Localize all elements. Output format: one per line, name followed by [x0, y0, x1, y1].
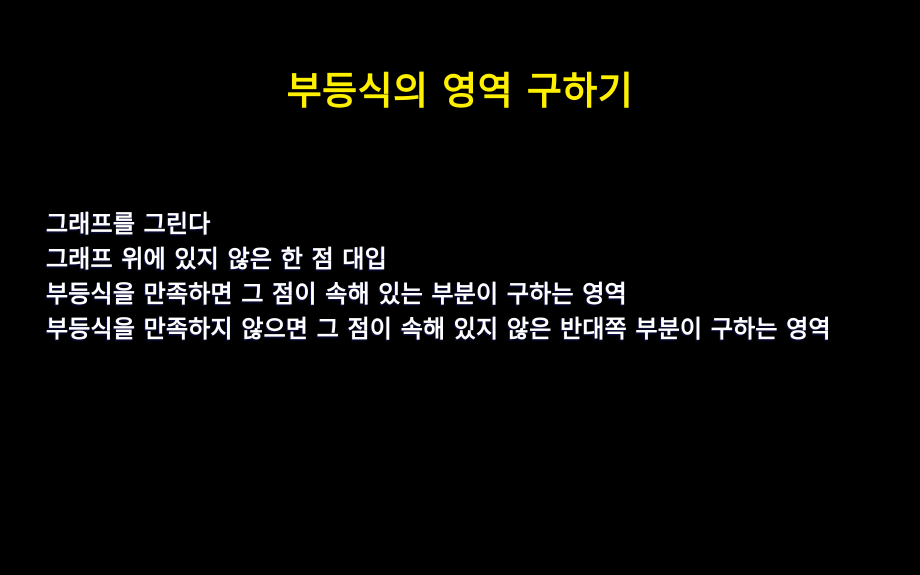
slide-body-list: 그래프를 그린다 그래프 위에 있지 않은 한 점 대입 부등식을 만족하면 그…: [46, 207, 896, 347]
presentation-slide: 부등식의 영역 구하기 그래프를 그린다 그래프 위에 있지 않은 한 점 대입…: [0, 0, 920, 575]
body-line-1: 그래프를 그린다: [46, 207, 896, 242]
body-line-4: 부등식을 만족하지 않으면 그 점이 속해 있지 않은 반대쪽 부분이 구하는 …: [46, 312, 896, 347]
page-title: 부등식의 영역 구하기: [0, 68, 920, 114]
body-line-2: 그래프 위에 있지 않은 한 점 대입: [46, 242, 896, 277]
body-line-3: 부등식을 만족하면 그 점이 속해 있는 부분이 구하는 영역: [46, 277, 896, 312]
